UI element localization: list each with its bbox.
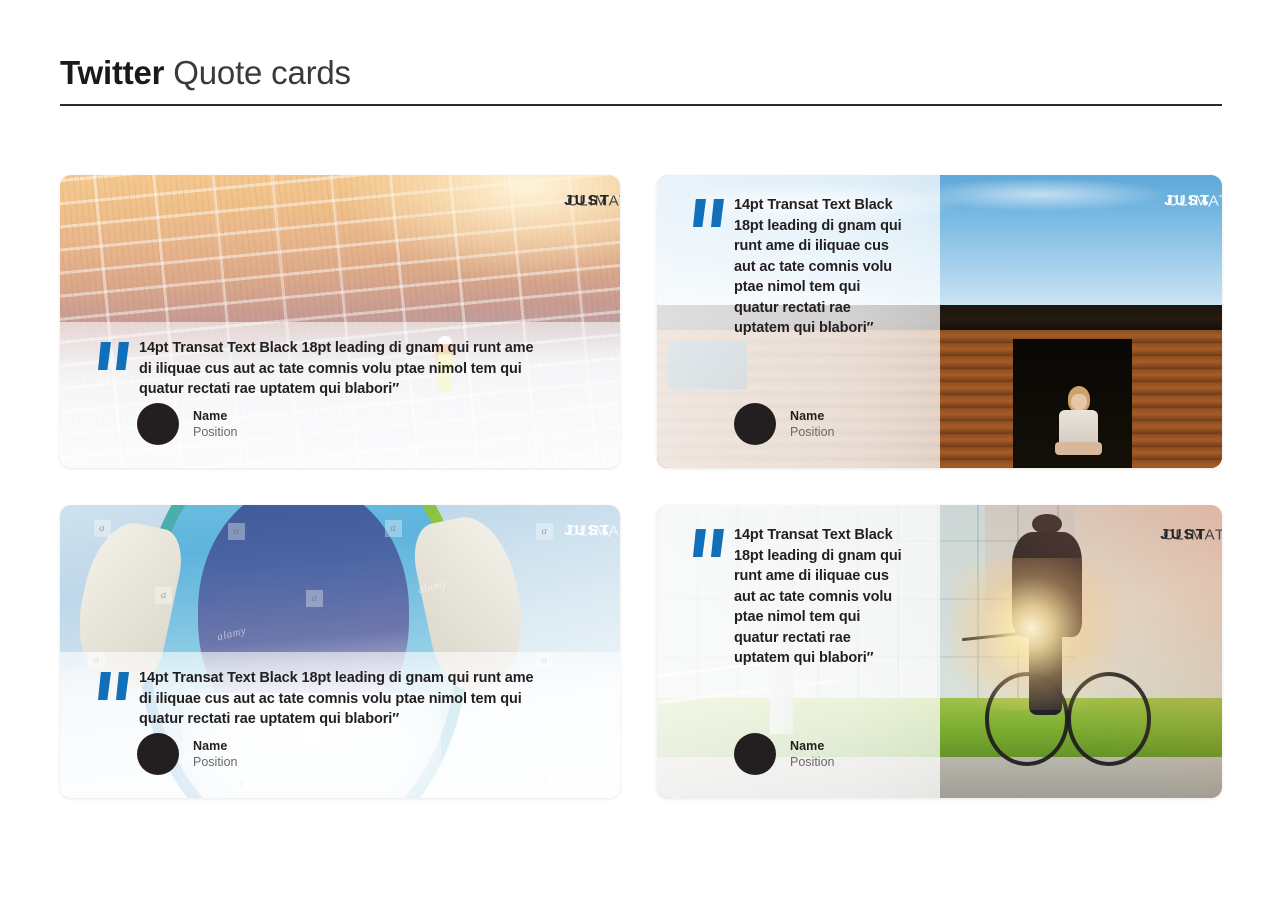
quote-card-cyclist[interactable]: JUST CLIMATE 14pt Transat Text Black 18p…	[657, 505, 1222, 798]
attribution-text: Name Position	[193, 739, 237, 770]
quote-card-lab[interactable]: a a a a a a a a a a alamy alamy alamy al…	[60, 505, 620, 798]
quote-block: 14pt Transat Text Black 18pt leading di …	[693, 525, 908, 669]
quote-card-solar[interactable]: JUST CLIMATE 14pt Transat Text Black 18p…	[60, 175, 620, 468]
just-climate-logo: JUST CLIMATE	[564, 523, 604, 538]
quote-block: 14pt Transat Text Black 18pt leading di …	[693, 195, 908, 339]
quote-mark-icon	[98, 668, 129, 730]
quote-text: 14pt Transat Text Black 18pt leading di …	[139, 668, 538, 730]
just-climate-logo: JUST CLIMATE	[1164, 193, 1204, 208]
person-arms	[1055, 442, 1103, 454]
person-face	[1071, 394, 1086, 411]
avatar	[137, 733, 179, 775]
quote-mark-icon	[98, 338, 129, 400]
quote-block: 14pt Transat Text Black 18pt leading di …	[98, 668, 538, 730]
page-title: Twitter Quote cards	[60, 52, 1222, 94]
attribution-name: Name	[193, 409, 237, 424]
attribution-name: Name	[790, 739, 834, 754]
avatar	[734, 403, 776, 445]
avatar	[137, 403, 179, 445]
attribution-text: Name Position	[790, 409, 834, 440]
just-climate-logo: JUST CLIMATE	[564, 193, 604, 208]
attribution-text: Name Position	[790, 739, 834, 770]
quote-mark-icon	[693, 195, 724, 339]
logo-word-just: JUST	[564, 193, 611, 208]
person-in-window	[1053, 386, 1104, 462]
attribution-position: Position	[193, 424, 237, 440]
attribution-position: Position	[790, 424, 834, 440]
attribution: Name Position	[734, 733, 834, 775]
page-title-strong: Twitter	[60, 54, 164, 91]
logo-word-just: JUST	[564, 523, 611, 538]
page-header: Twitter Quote cards	[60, 52, 1222, 94]
warm-light-leak	[985, 505, 1222, 798]
attribution-position: Position	[193, 754, 237, 770]
avatar	[734, 733, 776, 775]
attribution: Name Position	[137, 733, 237, 775]
sun-glow	[340, 175, 620, 280]
page-title-light: Quote cards	[173, 54, 351, 91]
header-divider	[60, 104, 1222, 106]
quote-block: 14pt Transat Text Black 18pt leading di …	[98, 338, 538, 400]
just-climate-logo: JUST CLIMATE	[1160, 527, 1200, 542]
attribution: Name Position	[137, 403, 237, 445]
attribution-position: Position	[790, 754, 834, 770]
logo-word-just: JUST	[1160, 527, 1207, 542]
attribution-text: Name Position	[193, 409, 237, 440]
attribution: Name Position	[734, 403, 834, 445]
quote-text: 14pt Transat Text Black 18pt leading di …	[734, 195, 908, 339]
attribution-name: Name	[790, 409, 834, 424]
cloud	[917, 178, 1166, 211]
quote-mark-icon	[693, 525, 724, 669]
attribution-name: Name	[193, 739, 237, 754]
quote-text: 14pt Transat Text Black 18pt leading di …	[139, 338, 538, 400]
quote-card-cabin[interactable]: JUST CLIMATE 14pt Transat Text Black 18p…	[657, 175, 1222, 468]
quote-text: 14pt Transat Text Black 18pt leading di …	[734, 525, 908, 669]
logo-word-just: JUST	[1164, 193, 1211, 208]
page-canvas: Twitter Quote cards JUST CLIMATE	[0, 0, 1280, 904]
